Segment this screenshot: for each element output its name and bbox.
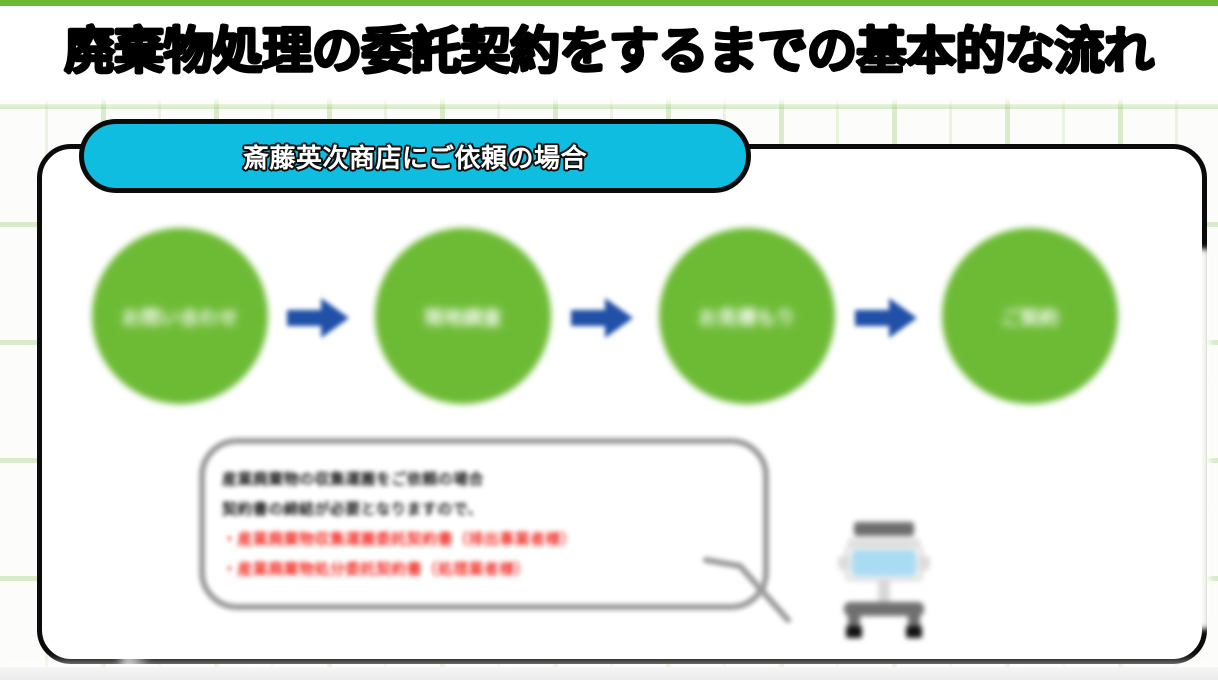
flow-step-2-label: 現地調査 — [424, 303, 502, 330]
flow-step-4[interactable]: ご契約 — [942, 228, 1118, 404]
flow-step-1-label: お問い合わせ — [121, 303, 238, 330]
top-green-rule — [0, 0, 1218, 6]
arrow-right-icon — [287, 296, 349, 340]
scenario-tab-label: 斎藤英次商店にご依頼の場合 — [243, 138, 587, 175]
bubble-line-2: 契約書の締結が必要となりますので、 — [222, 494, 742, 524]
scenario-tab-pill[interactable]: 斎藤英次商店にご依頼の場合 — [79, 119, 751, 193]
page-title: 廃棄物処理の委託契約をするまでの基本的な流れ — [0, 18, 1218, 84]
flow-step-1[interactable]: お問い合わせ — [92, 228, 268, 404]
truck-front-icon — [828, 516, 940, 642]
process-flow: お問い合わせ 現地調査 お見積もり ご契約 — [0, 228, 1218, 408]
bubble-line-4: ・産業廃棄物処分委託契約書（処理業者様） — [222, 554, 742, 584]
slide-canvas: 廃棄物処理の委託契約をするまでの基本的な流れ 斎藤英次商店にご依頼の場合 お問い… — [0, 0, 1218, 680]
flow-step-4-label: ご契約 — [1001, 303, 1060, 330]
speech-bubble-text: 産業廃棄物の収集運搬をご依頼の場合 契約書の締結が必要となりますので、 ・産業廃… — [222, 464, 742, 584]
arrow-right-icon — [855, 296, 917, 340]
bottom-strip — [0, 667, 1218, 680]
bubble-line-3: ・産業廃棄物収集運搬委託契約書（排出事業者様） — [222, 524, 742, 554]
arrow-right-icon — [571, 296, 633, 340]
flow-step-3-label: お見積もり — [698, 303, 796, 330]
bubble-line-1: 産業廃棄物の収集運搬をご依頼の場合 — [222, 464, 742, 494]
flow-step-2[interactable]: 現地調査 — [375, 228, 551, 404]
flow-step-3[interactable]: お見積もり — [659, 228, 835, 404]
title-band-fade — [0, 98, 1218, 108]
